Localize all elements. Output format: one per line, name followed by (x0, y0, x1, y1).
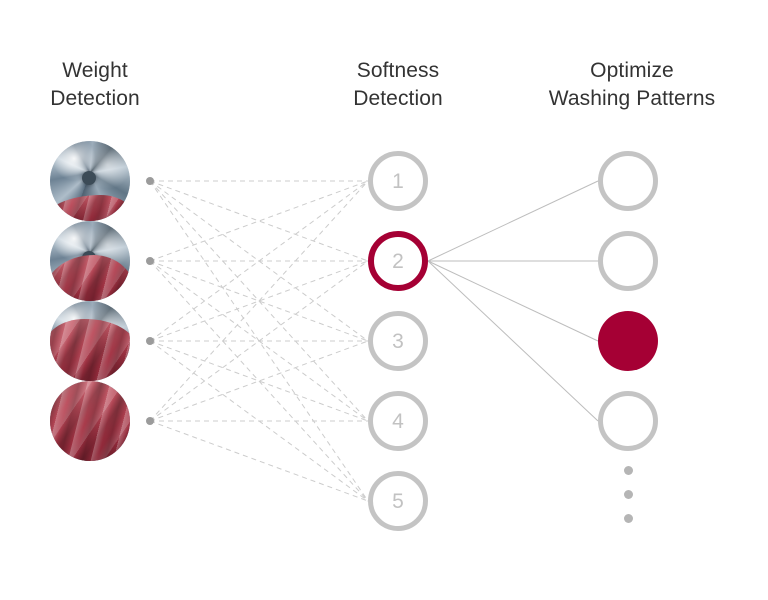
connection-line-dashed (150, 261, 368, 341)
ellipsis-dot (624, 490, 633, 499)
softness-node-2[interactable]: 2 (368, 231, 428, 291)
connection-line-dashed (150, 181, 368, 341)
connection-line-dashed (150, 261, 368, 421)
medium-load-thumbnail (50, 301, 130, 381)
connection-line-dashed (150, 181, 368, 501)
softness-node-4[interactable]: 4 (368, 391, 428, 451)
input-to-softness-edges (150, 181, 368, 501)
heading-line-2: Washing Patterns (516, 85, 748, 113)
neural-network-diagram: Weight Detection Softness Detection Opti… (0, 0, 768, 600)
input-connector-dot (146, 337, 154, 345)
empty-drum-thumbnail (50, 141, 130, 221)
connection-line-dashed (150, 261, 368, 501)
node-label: 3 (392, 331, 404, 352)
washing-pattern-node-1[interactable] (598, 151, 658, 211)
connection-line-dashed (150, 181, 368, 261)
connection-line-dashed (150, 421, 368, 501)
heading-line-1: Weight (0, 57, 190, 85)
washing-pattern-node-4[interactable] (598, 391, 658, 451)
node-label: 4 (392, 411, 404, 432)
connection-line-solid (428, 181, 598, 261)
connection-line-dashed (150, 181, 368, 421)
column-heading-softness-detection: Softness Detection (305, 57, 491, 113)
softness-node-5[interactable]: 5 (368, 471, 428, 531)
softness-to-output-edges (428, 181, 598, 421)
washing-pattern-node-2[interactable] (598, 231, 658, 291)
connection-line-dashed (150, 261, 368, 341)
connection-line-solid (428, 261, 598, 341)
connection-line-dashed (150, 181, 368, 261)
input-connector-dot (146, 177, 154, 185)
input-connector-dot (146, 257, 154, 265)
node-label: 5 (392, 491, 404, 512)
connection-line-solid (428, 261, 598, 421)
heading-line-2: Detection (0, 85, 190, 113)
connection-line-dashed (150, 261, 368, 421)
heading-line-1: Optimize (516, 57, 748, 85)
laundry-fabric-fill (50, 319, 130, 381)
connection-line-dashed (150, 341, 368, 421)
ellipsis-dot (624, 514, 633, 523)
heading-line-1: Softness (305, 57, 491, 85)
ellipsis-dot (624, 466, 633, 475)
connection-line-dashed (150, 181, 368, 341)
heading-line-2: Detection (305, 85, 491, 113)
connection-line-dashed (150, 341, 368, 421)
connection-line-dashed (150, 181, 368, 421)
node-label: 1 (392, 171, 404, 192)
softness-node-3[interactable]: 3 (368, 311, 428, 371)
full-load-thumbnail (50, 381, 130, 461)
column-heading-weight-detection: Weight Detection (0, 57, 190, 113)
washing-pattern-node-3[interactable] (598, 311, 658, 371)
input-connector-dot (146, 417, 154, 425)
connection-line-dashed (150, 341, 368, 501)
column-heading-optimize-washing-patterns: Optimize Washing Patterns (516, 57, 748, 113)
laundry-fabric-fill (50, 381, 130, 461)
light-load-thumbnail (50, 221, 130, 301)
softness-node-1[interactable]: 1 (368, 151, 428, 211)
node-label: 2 (392, 251, 404, 272)
